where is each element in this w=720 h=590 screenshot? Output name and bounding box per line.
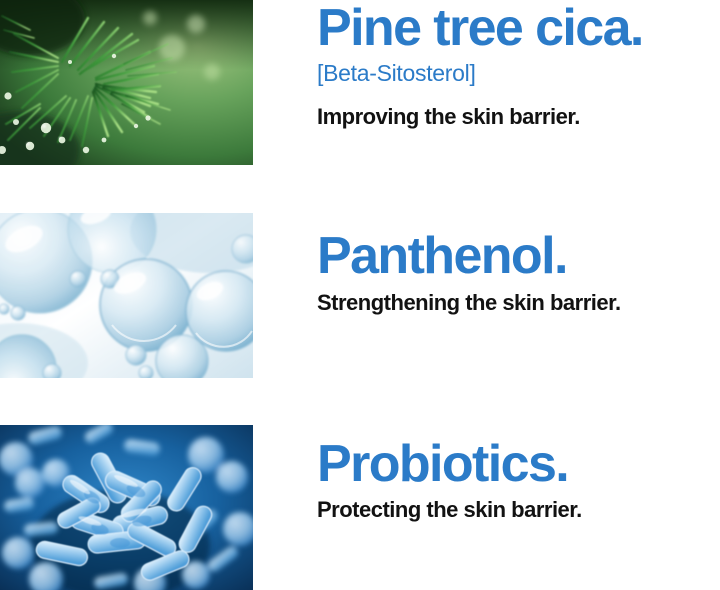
probiotic-bacteria-photo (0, 425, 253, 590)
ingredient-headline: Panthenol. (317, 230, 567, 282)
ingredient-subtitle: [Beta-Sitosterol] (317, 60, 476, 86)
pine-needles-photo (0, 0, 253, 165)
ingredient-section-pine-tree-cica: Pine tree cica. [Beta-Sitosterol] Improv… (0, 0, 720, 213)
water-bubbles-photo (0, 213, 253, 378)
ingredient-tagline: Improving the skin barrier. (317, 104, 580, 129)
ingredient-headline: Probiotics. (317, 438, 568, 490)
ingredient-headline: Pine tree cica. (317, 2, 643, 54)
ingredient-tagline: Strengthening the skin barrier. (317, 290, 621, 315)
ingredient-section-probiotics: Probiotics. Protecting the skin barrier. (0, 425, 720, 590)
ingredient-tagline: Protecting the skin barrier. (317, 497, 582, 522)
ingredient-section-panthenol: Panthenol. Strengthening the skin barrie… (0, 213, 720, 425)
